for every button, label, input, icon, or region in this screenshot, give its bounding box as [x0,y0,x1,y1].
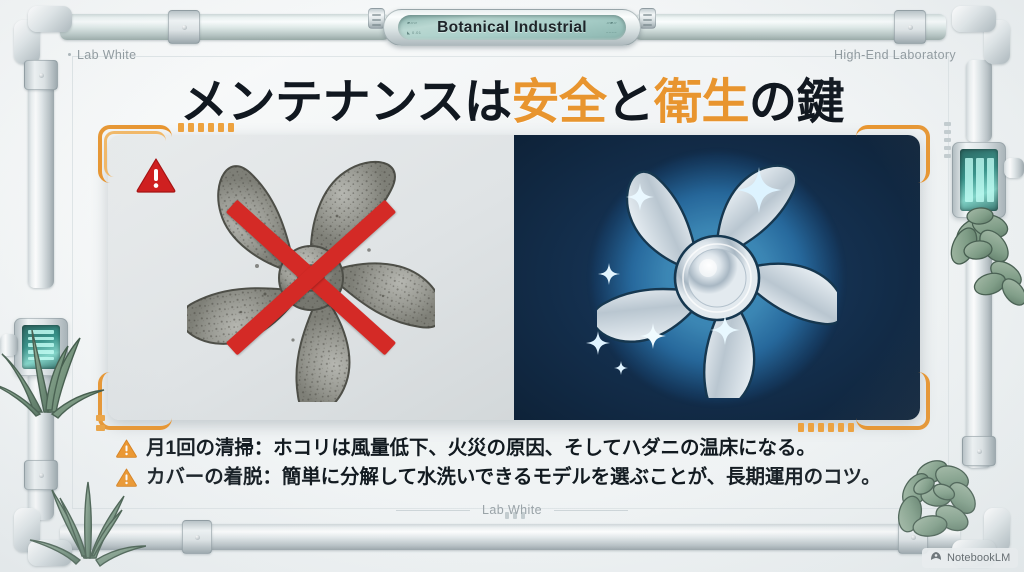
rule-right [554,510,628,511]
pipe-right-gauge-stub [1004,158,1024,178]
title-module: ▰▱▱ ◣ 0.01 ▱▰▱ ~~~~ Botanical Industrial [383,9,641,46]
label-bottom-center: Lab White [0,503,1024,517]
red-cross-overlay [211,178,411,378]
inner-frame-line-top [72,56,948,57]
pipe-collar-top-right [894,10,926,44]
pipe-elbow-top-right [952,6,1010,64]
list-item: 月1回の清掃：ホコリは風量低下、火災の原因、そしてハダニの温床になる。 [116,436,946,462]
label-top-left-text: Lab White [77,48,136,62]
list-item-text: カバーの着脱：簡単に分解して水洗いできるモデルを選ぶことが、長期運用のコツ。 [146,465,881,491]
comparison-panel [108,135,920,420]
page-title-highlight: 安全 [511,76,606,129]
pipe-elbow-top-left [14,6,72,64]
plant-top-left [0,292,110,427]
notebooklm-icon [930,549,942,567]
brand-label: Botanical Industrial [437,19,587,37]
clean-fan-image [597,158,837,398]
panel-hatch-top-left [178,123,234,132]
label-top-right-text: High-End Laboratory [834,48,956,62]
page-title: メンテナンスは安全と衛生の鍵 [0,62,1024,132]
plant-bottom-right [876,442,996,557]
pipe-collar-top-left [168,10,200,44]
watermark-text: NotebookLM [947,552,1010,564]
warning-triangle-icon [116,439,137,458]
plant-top-right [924,188,1024,313]
pipe-collar-bottom-left [182,520,212,554]
title-module-screen: ▰▱▱ ◣ 0.01 ▱▰▱ ~~~~ Botanical Industrial [398,15,626,40]
panel-bracket-top-right [856,125,930,183]
rule-left [396,510,470,511]
pipe-top-left [60,14,390,40]
page-title-segment: メンテナンスは [180,76,512,129]
comparison-panel-inner [108,135,920,420]
bullet-dot-icon [68,53,71,56]
panel-bracket-bottom-right [856,372,930,430]
panel-hatch-bottom-right [798,423,854,432]
label-top-right: High-End Laboratory [834,48,956,62]
page-title-highlight: 衛生 [654,76,749,129]
list-item-text: 月1回の清掃：ホコリは風量低下、火災の原因、そしてハダニの温床になる。 [146,436,816,462]
page-title-segment: の鍵 [749,76,844,129]
panel-bracket-top-left-inner [104,131,166,177]
bullet-list: 月1回の清掃：ホコリは風量低下、火災の原因、そしてハダニの温床になる。 カバーの… [116,436,946,494]
title-module-cap-right [639,8,656,29]
page-title-segment: と [607,76,655,129]
watermark: NotebookLM [922,548,1018,568]
label-bottom-center-text: Lab White [482,503,542,517]
plant-bottom-left [26,462,146,572]
list-item: カバーの着脱：簡単に分解して水洗いできるモデルを選ぶことが、長期運用のコツ。 [116,465,946,491]
slide-stage: ▰▱▱ ◣ 0.01 ▱▰▱ ~~~~ Botanical Industrial… [0,0,1024,572]
label-top-left: Lab White [68,48,136,62]
